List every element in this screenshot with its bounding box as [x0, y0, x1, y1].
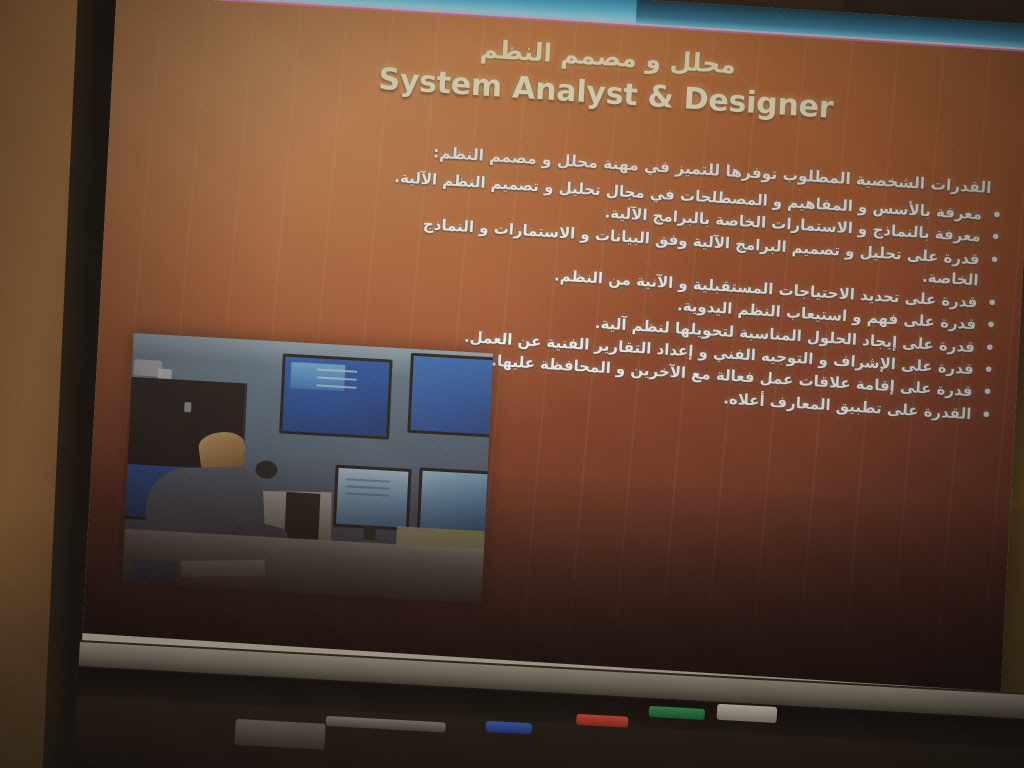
room-photo-scene: محلل و مصمم النظم System Analyst & Desig…: [0, 0, 1024, 768]
projection-screen: محلل و مصمم النظم System Analyst & Desig…: [81, 0, 1024, 724]
ledge-marker-grey: [326, 716, 446, 733]
ledge-eraser: [234, 719, 325, 750]
ledge-marker-white: [717, 704, 778, 723]
ledge-marker-red: [576, 714, 629, 728]
powerpoint-slide: محلل و مصمم النظم System Analyst & Desig…: [82, 0, 1024, 692]
ledge-marker-blue: [486, 721, 533, 735]
